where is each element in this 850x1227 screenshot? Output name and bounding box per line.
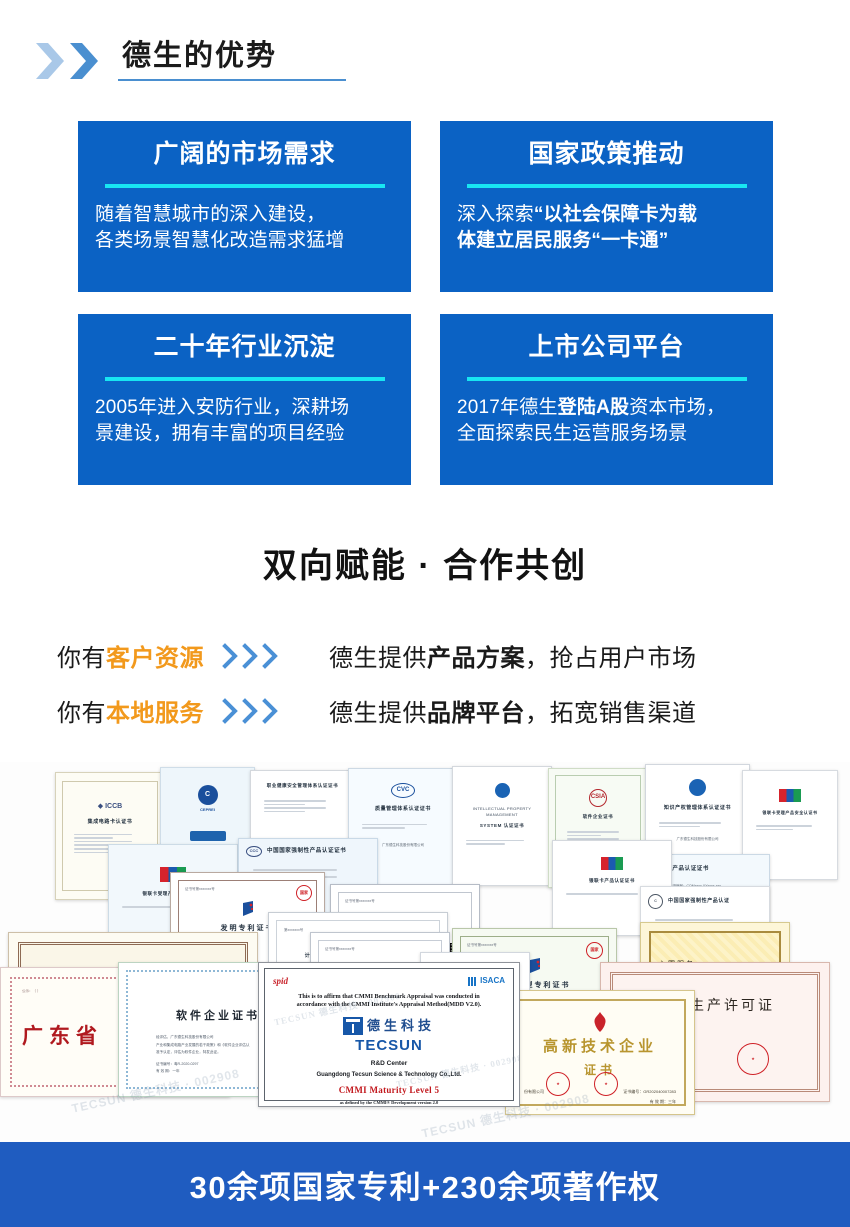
synergy-right-emphasis: 产品方案 — [427, 645, 525, 672]
card-body: 2005年进入安防行业，深耕场 景建设，拥有丰富的项目经验 — [95, 395, 394, 449]
card-body-line2: 体建立居民服务“一卡通” — [457, 228, 756, 255]
synergy-row-1: 你有客户资源 德生提供产品方案，抢占用户市场 — [0, 628, 850, 683]
card-body-emphasis: 体建立居民服务“一卡通” — [457, 230, 668, 251]
footer-text: 30余项国家专利+230余项著作权 — [190, 1162, 661, 1207]
card-body-line1: 深入探索“以社会保障卡为载 — [457, 202, 756, 229]
card-title: 上市公司平台 — [528, 334, 684, 362]
spid-logo: spid — [273, 975, 288, 989]
cert-intellectual-property: INTELLECTUAL PROPERTY MANAGEMENT SYSTEM … — [452, 766, 552, 886]
card-title: 二十年行业沉淀 — [153, 334, 335, 362]
synergy-right-tail: ，拓宽销售渠道 — [525, 700, 697, 727]
official-seal-icon: ★ — [546, 1072, 570, 1096]
card-body-line2: 景建设，拥有丰富的项目经验 — [95, 421, 394, 448]
card-divider — [467, 184, 747, 188]
card-body-line2: 各类场景智慧化改造需求猛增 — [95, 228, 394, 255]
card-title: 国家政策推动 — [528, 141, 684, 169]
synergy-right-emphasis: 品牌平台 — [427, 700, 525, 727]
synergy-right: 德生提供品牌平台，拓宽销售渠道 — [329, 693, 697, 728]
cmmi-level: CMMI Maturity Level 5 — [273, 1084, 505, 1098]
isaca-mark-icon — [468, 977, 477, 986]
synergy-left-prefix: 你有 — [57, 700, 106, 727]
card-divider — [105, 184, 385, 188]
cert-title: 中国国家强制性产品认证证书 — [267, 847, 346, 856]
triple-chevron-right-icon — [222, 698, 279, 724]
card-body-text: 深入探索 — [457, 204, 534, 225]
synergy-right-tail: ，抢占用户市场 — [525, 645, 697, 672]
tecsun-cn-name: 德生科技 — [367, 1016, 435, 1036]
advantage-card-1: 广阔的市场需求 随着智慧城市的深入建设， 各类场景智慧化改造需求猛增 — [78, 121, 411, 292]
card-body-line1: 随着智慧城市的深入建设， — [95, 202, 394, 229]
card-body: 深入探索“以社会保障卡为载 体建立居民服务“一卡通” — [457, 202, 756, 256]
cert-number: 证书编号：GR202040007283 — [623, 1089, 676, 1095]
card-body-text: 2017年德生 — [457, 397, 558, 418]
advantage-card-grid: 广阔的市场需求 随着智慧城市的深入建设， 各类场景智慧化改造需求猛增 国家政策推… — [78, 121, 773, 485]
isaca-label: ISACA — [480, 975, 505, 987]
official-seal-icon: ★ — [737, 1043, 769, 1075]
card-body-line1: 2017年德生登陆A股资本市场， — [457, 395, 756, 422]
flame-emblem-icon — [590, 1011, 610, 1033]
double-chevron-right-icon — [34, 41, 100, 81]
cert-title: 质量管理体系认证证书 — [355, 806, 451, 814]
card-body: 2017年德生登陆A股资本市场， 全面探索民生运营服务场景 — [457, 395, 756, 449]
triple-chevron-right-icon — [222, 643, 279, 669]
section-headline: 双向赋能 · 合作共创 — [0, 538, 850, 587]
title-underline — [118, 79, 346, 81]
cmmi-company-en: Guangdong Tecsun Science & Technology Co… — [273, 1071, 505, 1080]
cert-title: 集成电路卡认证书 — [67, 819, 153, 827]
card-body-emphasis: 登陆A股 — [558, 397, 630, 418]
cert-cmmi: spid ISACA This is to affirm that CMMI B… — [258, 962, 520, 1107]
cert-title-line1: 高新技术企业 — [524, 1036, 676, 1059]
synergy-left-highlight: 客户资源 — [106, 645, 204, 672]
synergy-right: 德生提供产品方案，抢占用户市场 — [329, 638, 697, 673]
cmmi-statement-1: This is to affirm that CMMI Benchmark Ap… — [273, 993, 505, 1001]
synergy-left: 你有本地服务 — [57, 693, 204, 728]
official-seal-icon-2: ★ — [594, 1072, 618, 1096]
synergy-left-prefix: 你有 — [57, 645, 106, 672]
tecsun-logo-icon — [343, 1017, 363, 1035]
card-body-line2: 全面探索民生运营服务场景 — [457, 421, 756, 448]
page-title: 德生的优势 — [118, 41, 346, 74]
card-title: 广阔的市场需求 — [153, 141, 335, 169]
patent-emblem-icon — [240, 900, 256, 917]
card-divider — [467, 377, 747, 381]
cert-high-tech: 高新技术企业 证书 份有限公司 证书编号：GR202040007283 有 效 … — [505, 990, 695, 1115]
synergy-left: 你有客户资源 — [57, 638, 204, 673]
synergy-row-2: 你有本地服务 德生提供品牌平台，拓宽销售渠道 — [0, 683, 850, 738]
cert-valid: 有 效 期：三年 — [524, 1099, 676, 1105]
card-body-line1: 2005年进入安防行业，深耕场 — [95, 395, 394, 422]
synergy-rows: 你有客户资源 德生提供产品方案，抢占用户市场 你有本地服务 德生提供品牌平台，拓… — [0, 628, 850, 738]
cmmi-unit: R&D Center — [273, 1059, 505, 1069]
cmmi-defined-by: as defined by the CMMI® Development vers… — [273, 1100, 505, 1107]
synergy-right-prefix: 德生提供 — [329, 700, 427, 727]
advantage-card-3: 二十年行业沉淀 2005年进入安防行业，深耕场 景建设，拥有丰富的项目经验 — [78, 314, 411, 485]
card-body-emphasis: “以社会保障卡为载 — [534, 204, 697, 225]
card-body-tail: 资本市场， — [629, 397, 725, 418]
advantage-card-2: 国家政策推动 深入探索“以社会保障卡为载 体建立居民服务“一卡通” — [440, 121, 773, 292]
cmmi-statement-2: accordance with the CMMI Institute's App… — [273, 1001, 505, 1009]
certificate-wall: ◆ ICCB 集成电路卡认证书 C CEPREI 职业健康安全管理体系认证证书 … — [0, 762, 850, 1142]
synergy-right-prefix: 德生提供 — [329, 645, 427, 672]
synergy-left-highlight: 本地服务 — [106, 700, 204, 727]
card-divider — [105, 377, 385, 381]
cert-title: 职业健康安全管理体系认证证书 — [257, 783, 348, 790]
advantage-card-4: 上市公司平台 2017年德生登陆A股资本市场， 全面探索民生运营服务场景 — [440, 314, 773, 485]
cert-company: 份有限公司 — [524, 1089, 544, 1095]
footer-banner: 30余项国家专利+230余项著作权 — [0, 1142, 850, 1227]
cert-title: 知识产权管理体系认证证书 — [652, 805, 743, 813]
section-header: 德生的优势 — [0, 30, 850, 92]
card-body: 随着智慧城市的深入建设， 各类场景智慧化改造需求猛增 — [95, 202, 394, 256]
tecsun-wordmark: TECSUN — [355, 1037, 423, 1054]
